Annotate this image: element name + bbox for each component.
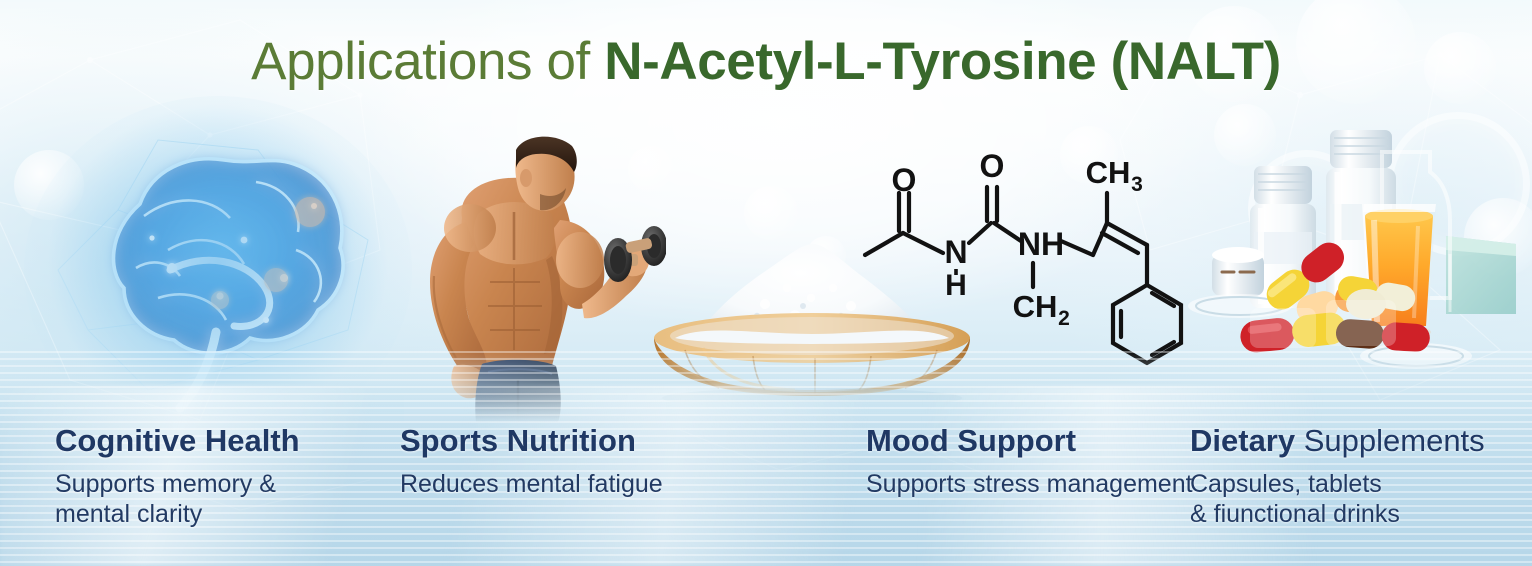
page-title: Applications of N-Acetyl-L-Tyrosine (NAL… <box>0 34 1532 90</box>
caption-heading-bold: Dietary <box>1190 423 1295 458</box>
atom-label-o2: O <box>980 148 1005 184</box>
chemical-structure-visual: O O N H NH CH 2 CH 3 <box>855 145 1205 380</box>
tablet-jar <box>1212 247 1264 296</box>
caption-mood-support: Mood Support Supports stress management <box>866 424 1193 499</box>
atom-label-nh: NH <box>1018 226 1064 262</box>
caption-heading: Cognitive Health <box>55 424 300 459</box>
atom-label-o1: O <box>892 162 917 198</box>
atom-label-ch2: CH <box>1013 289 1058 324</box>
caption-heading: Dietary Supplements <box>1190 424 1485 459</box>
caption-subtitle-line1: Reduces mental fatigue <box>400 469 663 499</box>
caption-subtitle-line2: & fiunctional drinks <box>1190 499 1485 529</box>
title-light-part: Applications of <box>251 32 604 91</box>
caption-subtitle-line1: Supports memory & <box>55 469 300 499</box>
nalt-skeletal-formula: O O N H NH CH 2 CH 3 <box>855 145 1205 380</box>
caption-subtitle: Reduces mental fatigue <box>400 469 663 499</box>
caption-dietary-supplements: Dietary Supplements Capsules, tablets & … <box>1190 424 1485 529</box>
caption-heading: Sports Nutrition <box>400 424 663 459</box>
caption-heading-light: Supplements <box>1295 423 1485 458</box>
caption-sports-nutrition: Sports Nutrition Reduces mental fatigue <box>400 424 663 499</box>
caption-subtitle: Supports stress management <box>866 469 1193 499</box>
caption-subtitle-line1: Capsules, tablets <box>1190 469 1485 499</box>
caption-subtitle-line1: Supports stress management <box>866 469 1193 499</box>
atom-label-ch2-sub: 2 <box>1058 307 1070 330</box>
caption-cognitive-health: Cognitive Health Supports memory & menta… <box>55 424 300 529</box>
title-bold-part: N-Acetyl-L-Tyrosine (NALT) <box>604 32 1281 91</box>
atom-label-ch3-sub: 3 <box>1131 173 1143 196</box>
caption-subtitle: Capsules, tablets & fiunctional drinks <box>1190 469 1485 529</box>
caption-subtitle-line2: mental clarity <box>55 499 300 529</box>
atom-label-n1: N <box>944 234 967 270</box>
atom-label-ch3: CH <box>1086 155 1131 190</box>
nalt-applications-infographic: O O N H NH CH 2 CH 3 <box>0 0 1532 566</box>
caption-subtitle: Supports memory & mental clarity <box>55 469 300 529</box>
caption-heading: Mood Support <box>866 424 1193 459</box>
mint-glass-block <box>1446 236 1516 314</box>
